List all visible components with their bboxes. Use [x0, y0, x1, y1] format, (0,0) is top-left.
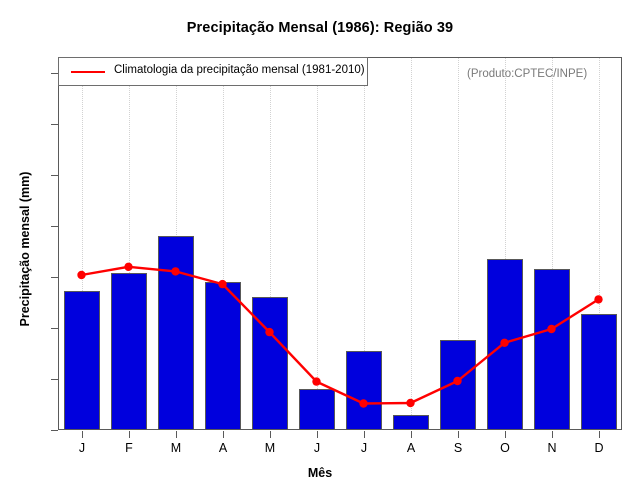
x-tick-label-a-3: A — [203, 441, 243, 455]
gridline-vertical — [411, 58, 413, 429]
x-tick-label-j-6: J — [344, 441, 384, 455]
x-axis-label: Mês — [0, 466, 640, 480]
y-tick-mark — [51, 73, 58, 74]
x-tick-mark — [364, 431, 365, 438]
x-tick-mark — [270, 431, 271, 438]
x-tick-label-j-5: J — [297, 441, 337, 455]
precipitation-chart-figure: Precipitação Mensal (1986): Região 39 Pr… — [0, 0, 640, 500]
legend-entry-climatology: Climatologia da precipitação mensal (198… — [114, 64, 365, 76]
x-tick-label-o-9: O — [485, 441, 525, 455]
bar-m-4 — [252, 297, 288, 430]
gridline-vertical — [317, 58, 319, 429]
bar-f-1 — [111, 273, 147, 430]
y-tick-mark — [51, 277, 58, 278]
x-tick-label-d-11: D — [579, 441, 619, 455]
x-tick-mark — [599, 431, 600, 438]
x-tick-mark — [505, 431, 506, 438]
y-axis-label: Precipitação mensal (mm) — [18, 119, 32, 379]
bar-j-5 — [299, 389, 335, 430]
bar-n-10 — [534, 269, 570, 430]
x-tick-mark — [552, 431, 553, 438]
y-tick-mark — [51, 175, 58, 176]
x-tick-label-m-4: M — [250, 441, 290, 455]
bar-j-6 — [346, 351, 382, 430]
x-tick-label-n-10: N — [532, 441, 572, 455]
x-tick-mark — [129, 431, 130, 438]
bar-d-11 — [581, 314, 617, 430]
bar-o-9 — [487, 259, 523, 430]
x-tick-mark — [223, 431, 224, 438]
bar-s-8 — [440, 340, 476, 430]
x-tick-mark — [176, 431, 177, 438]
bar-a-3 — [205, 282, 241, 430]
x-tick-mark — [317, 431, 318, 438]
y-tick-mark — [51, 226, 58, 227]
x-tick-label-m-2: M — [156, 441, 196, 455]
legend-line-swatch — [71, 71, 105, 73]
y-tick-mark — [51, 328, 58, 329]
y-tick-mark — [51, 430, 58, 431]
bar-m-2 — [158, 236, 194, 430]
x-tick-label-j-0: J — [62, 441, 102, 455]
chart-title: Precipitação Mensal (1986): Região 39 — [0, 20, 640, 36]
y-tick-mark — [51, 124, 58, 125]
x-tick-mark — [82, 431, 83, 438]
x-tick-mark — [411, 431, 412, 438]
x-tick-mark — [458, 431, 459, 438]
x-tick-label-s-8: S — [438, 441, 478, 455]
y-tick-mark — [51, 379, 58, 380]
x-tick-label-a-7: A — [391, 441, 431, 455]
x-tick-label-f-1: F — [109, 441, 149, 455]
source-note: (Produto:CPTEC/INPE) — [467, 68, 587, 80]
legend: Climatologia da precipitação mensal (198… — [58, 57, 368, 86]
bar-a-7 — [393, 415, 429, 430]
bar-j-0 — [64, 291, 100, 430]
